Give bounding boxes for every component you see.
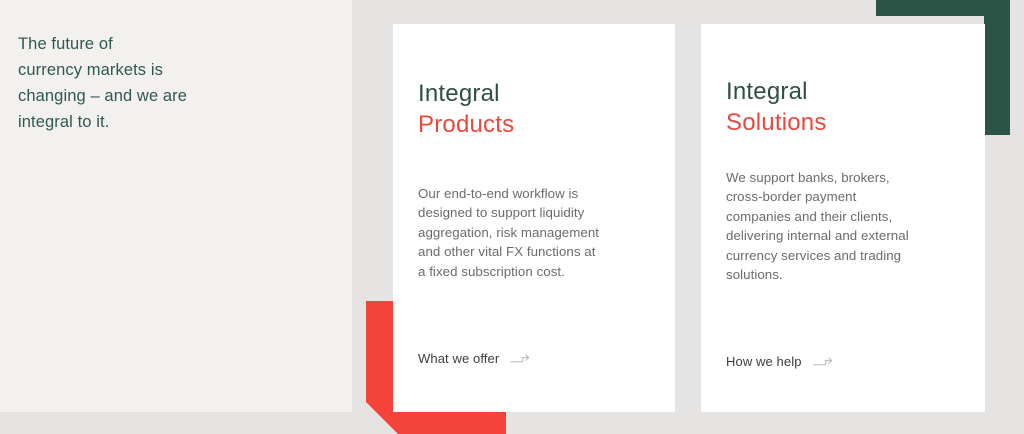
background-bottom-strip xyxy=(0,412,1024,434)
card-body-block: Our end-to-end workflow is designed to s… xyxy=(418,140,655,281)
cta-label: What we offer xyxy=(418,351,499,367)
card-title-accent: Products xyxy=(418,109,655,140)
card-integral-solutions[interactable]: Integral Solutions We support banks, bro… xyxy=(701,24,985,412)
card-title-block: Integral Solutions xyxy=(726,24,965,138)
card-title-primary: Integral xyxy=(418,78,655,109)
arrow-right-icon xyxy=(813,356,833,368)
page-root: The future of currency markets is changi… xyxy=(0,0,1024,434)
arrow-right-icon xyxy=(510,353,530,365)
card-title-primary: Integral xyxy=(726,76,965,107)
cta-what-we-offer[interactable]: What we offer xyxy=(418,351,530,367)
card-title-block: Integral Products xyxy=(418,24,655,140)
cta-how-we-help[interactable]: How we help xyxy=(726,354,833,370)
cta-label: How we help xyxy=(726,354,802,370)
card-title-accent: Solutions xyxy=(726,107,965,138)
card-body-text: Our end-to-end workflow is designed to s… xyxy=(418,184,655,281)
page-headline: The future of currency markets is changi… xyxy=(18,31,318,135)
card-body-block: We support banks, brokers, cross-border … xyxy=(726,138,965,284)
card-integral-products[interactable]: Integral Products Our end-to-end workflo… xyxy=(393,24,675,412)
card-body-text: We support banks, brokers, cross-border … xyxy=(726,168,965,284)
